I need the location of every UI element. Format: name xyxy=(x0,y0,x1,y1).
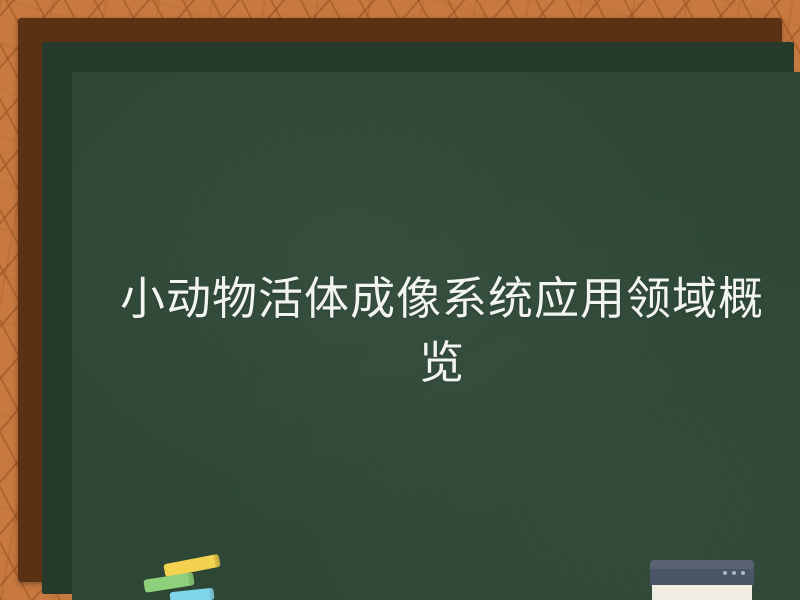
eraser-dot xyxy=(741,571,745,575)
blackboard-frame: 小动物活体成像系统应用领域概览 xyxy=(18,18,782,582)
eraser-handle xyxy=(650,560,754,586)
eraser-dots xyxy=(723,571,745,575)
chalkboard-scene: 小动物活体成像系统应用领域概览 xyxy=(0,0,800,600)
blackboard-eraser-icon xyxy=(650,560,754,600)
blackboard-inner-edge: 小动物活体成像系统应用领域概览 xyxy=(42,42,794,594)
title-area: 小动物活体成像系统应用领域概览 xyxy=(72,72,800,600)
eraser-felt xyxy=(652,585,752,600)
page-title: 小动物活体成像系统应用领域概览 xyxy=(112,267,772,395)
eraser-dot xyxy=(732,571,736,575)
eraser-dot xyxy=(723,571,727,575)
blackboard-surface: 小动物活体成像系统应用领域概览 xyxy=(72,72,800,600)
